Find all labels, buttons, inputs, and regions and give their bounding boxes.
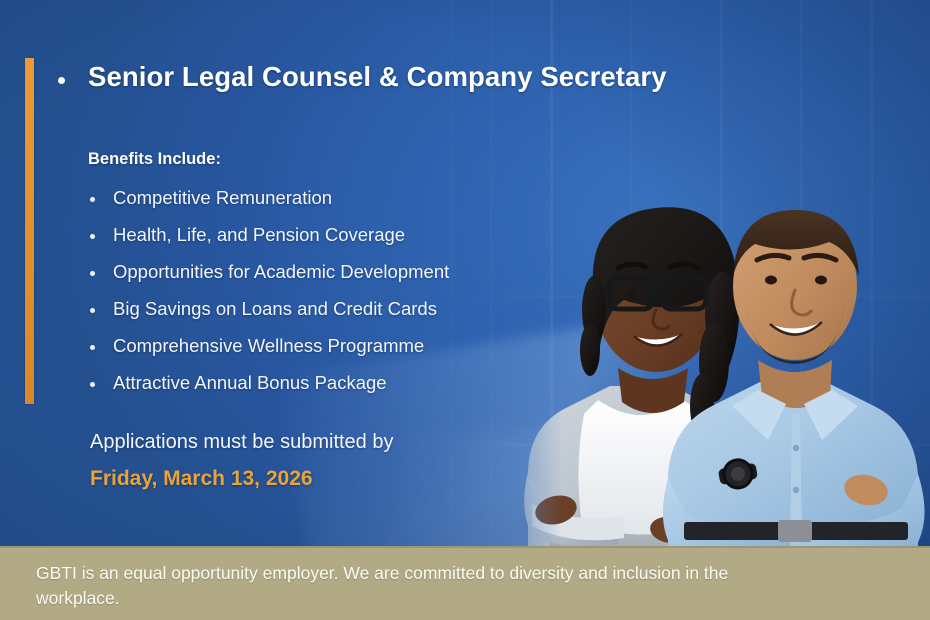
- bullet-icon: [90, 234, 95, 239]
- headline-row: Senior Legal Counsel & Company Secretary: [58, 60, 667, 93]
- bullet-icon: [90, 308, 95, 313]
- benefit-label: Comprehensive Wellness Programme: [113, 334, 424, 357]
- benefits-heading: Benefits Include:: [88, 150, 221, 169]
- bullet-icon: [90, 271, 95, 276]
- bullet-icon: [90, 382, 95, 387]
- page-title: Senior Legal Counsel & Company Secretary: [88, 60, 667, 93]
- list-item: Competitive Remuneration: [90, 186, 449, 223]
- accent-bar: [25, 58, 34, 404]
- job-advert-slide: Senior Legal Counsel & Company Secretary…: [0, 0, 930, 620]
- list-item: Comprehensive Wellness Programme: [90, 334, 449, 371]
- list-item: Health, Life, and Pension Coverage: [90, 223, 449, 260]
- equal-opportunity-statement: GBTI is an equal opportunity employer. W…: [36, 561, 736, 612]
- benefit-label: Health, Life, and Pension Coverage: [113, 223, 405, 246]
- headline-bullet-icon: [58, 77, 65, 84]
- two-professionals-photo: [470, 118, 930, 548]
- benefit-label: Competitive Remuneration: [113, 186, 332, 209]
- benefit-label: Opportunities for Academic Development: [113, 260, 449, 283]
- deadline-intro-text: Applications must be submitted by: [90, 428, 394, 456]
- benefit-label: Big Savings on Loans and Credit Cards: [113, 297, 437, 320]
- list-item: Attractive Annual Bonus Package: [90, 371, 449, 408]
- application-deadline: Applications must be submitted by Friday…: [90, 428, 394, 493]
- footer-bar: GBTI is an equal opportunity employer. W…: [0, 546, 930, 620]
- list-item: Big Savings on Loans and Credit Cards: [90, 297, 449, 334]
- bullet-icon: [90, 197, 95, 202]
- benefit-label: Attractive Annual Bonus Package: [113, 371, 387, 394]
- benefits-list: Competitive Remuneration Health, Life, a…: [90, 186, 449, 408]
- deadline-date: Friday, March 13, 2026: [90, 464, 394, 493]
- bullet-icon: [90, 345, 95, 350]
- list-item: Opportunities for Academic Development: [90, 260, 449, 297]
